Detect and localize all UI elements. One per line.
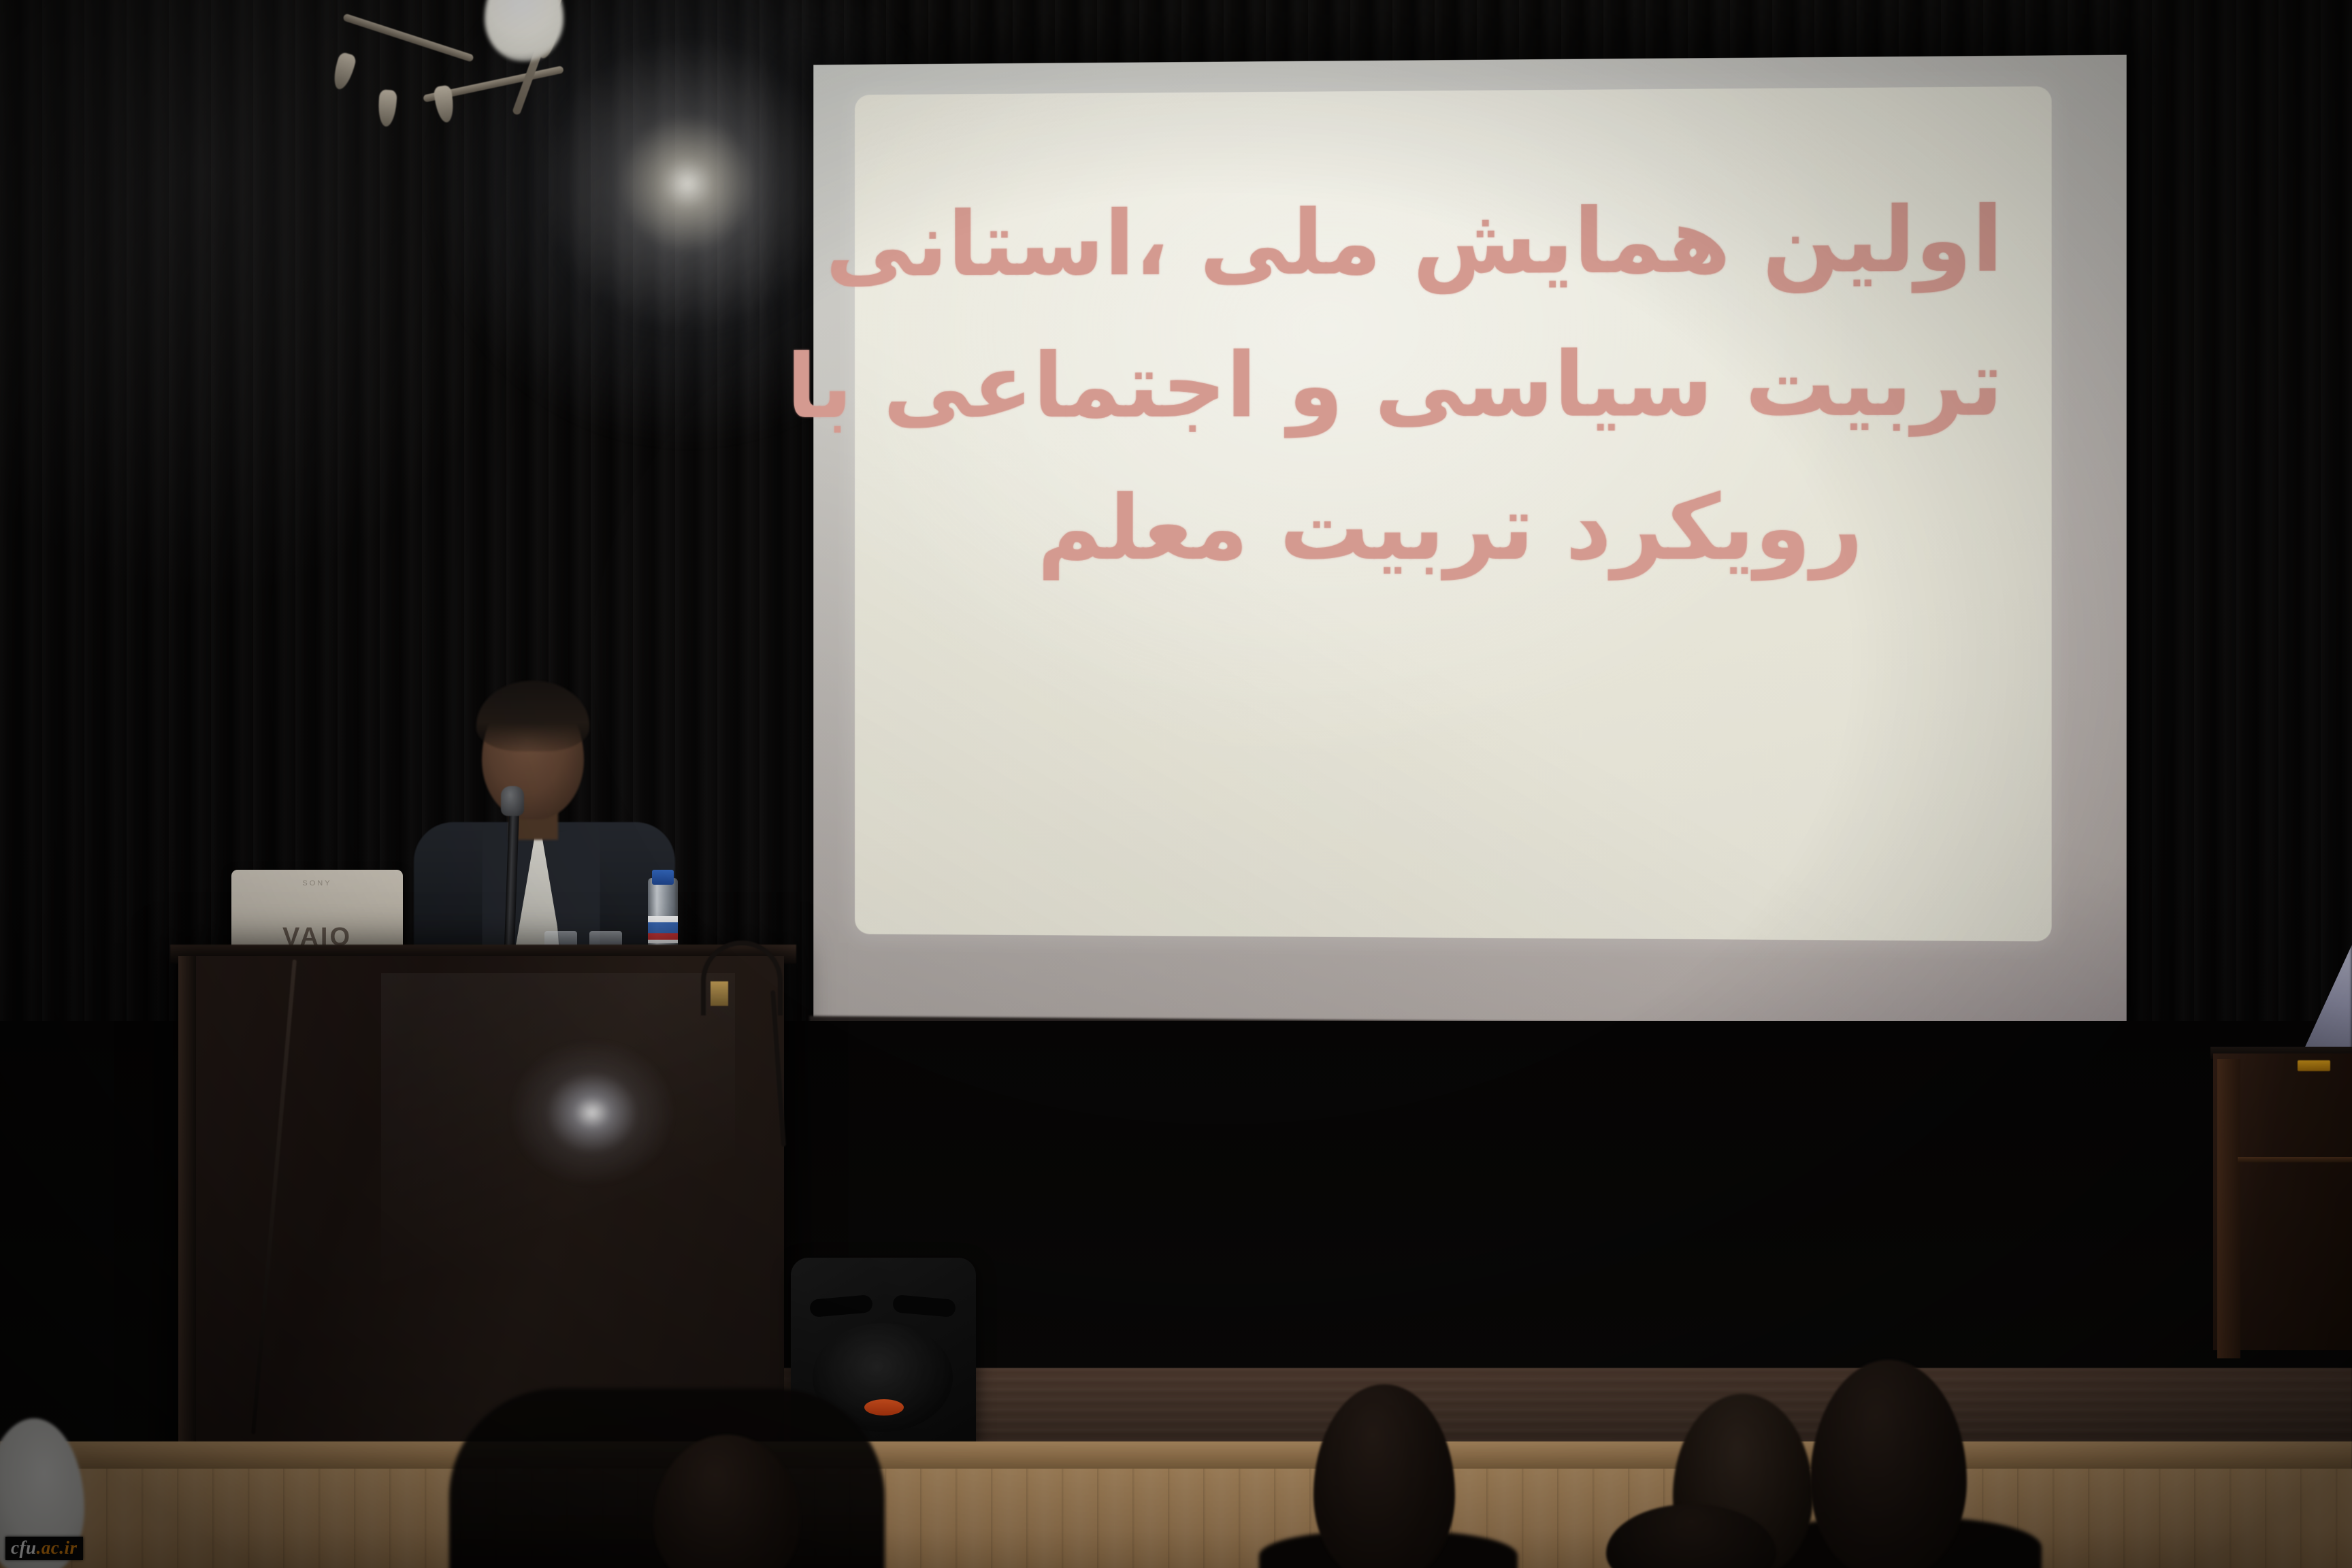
- projection-screen: اولین همایش ملی ،استانی تربیت سیاسی و اج…: [813, 55, 2126, 1032]
- sony-brand-label: SONY: [231, 879, 403, 887]
- presenter: [408, 674, 681, 960]
- projected-slide: اولین همایش ملی ،استانی تربیت سیاسی و اج…: [855, 86, 2052, 942]
- slide-line-3: رویکرد تربیت معلم: [902, 456, 2004, 600]
- stage-lip: [0, 1441, 2352, 1471]
- watermark-secondary: .ac.ir: [37, 1537, 78, 1558]
- side-table-leg: [2217, 1059, 2240, 1358]
- slide-line-2: تربیت سیاسی و اجتماعی با: [902, 312, 2004, 457]
- side-table-rail: [2238, 1157, 2352, 1162]
- presenter-hair: [476, 681, 589, 751]
- pa-speaker-port-left: [809, 1294, 873, 1318]
- watermark-primary: cfu: [11, 1537, 37, 1558]
- conference-photo-scene: اولین همایش ملی ،استانی تربیت سیاسی و اج…: [0, 0, 2352, 1568]
- audio-cable-loop: [701, 941, 783, 1015]
- podium-light-reflection: [476, 1021, 708, 1225]
- microphone-icon: [501, 786, 524, 816]
- table-plaque: [2298, 1060, 2330, 1071]
- pa-speaker-port-right: [892, 1294, 956, 1318]
- slide-title-text: اولین همایش ملی ،استانی تربیت سیاسی و اج…: [855, 167, 2052, 600]
- site-watermark: cfu.ac.ir: [5, 1537, 83, 1560]
- water-bottle-label: [648, 916, 678, 943]
- water-bottle-cap: [652, 870, 674, 885]
- pa-speaker-badge: [864, 1399, 904, 1416]
- podium-left-edge: [178, 956, 196, 1473]
- slide-line-1: اولین همایش ملی ،استانی: [902, 167, 2004, 316]
